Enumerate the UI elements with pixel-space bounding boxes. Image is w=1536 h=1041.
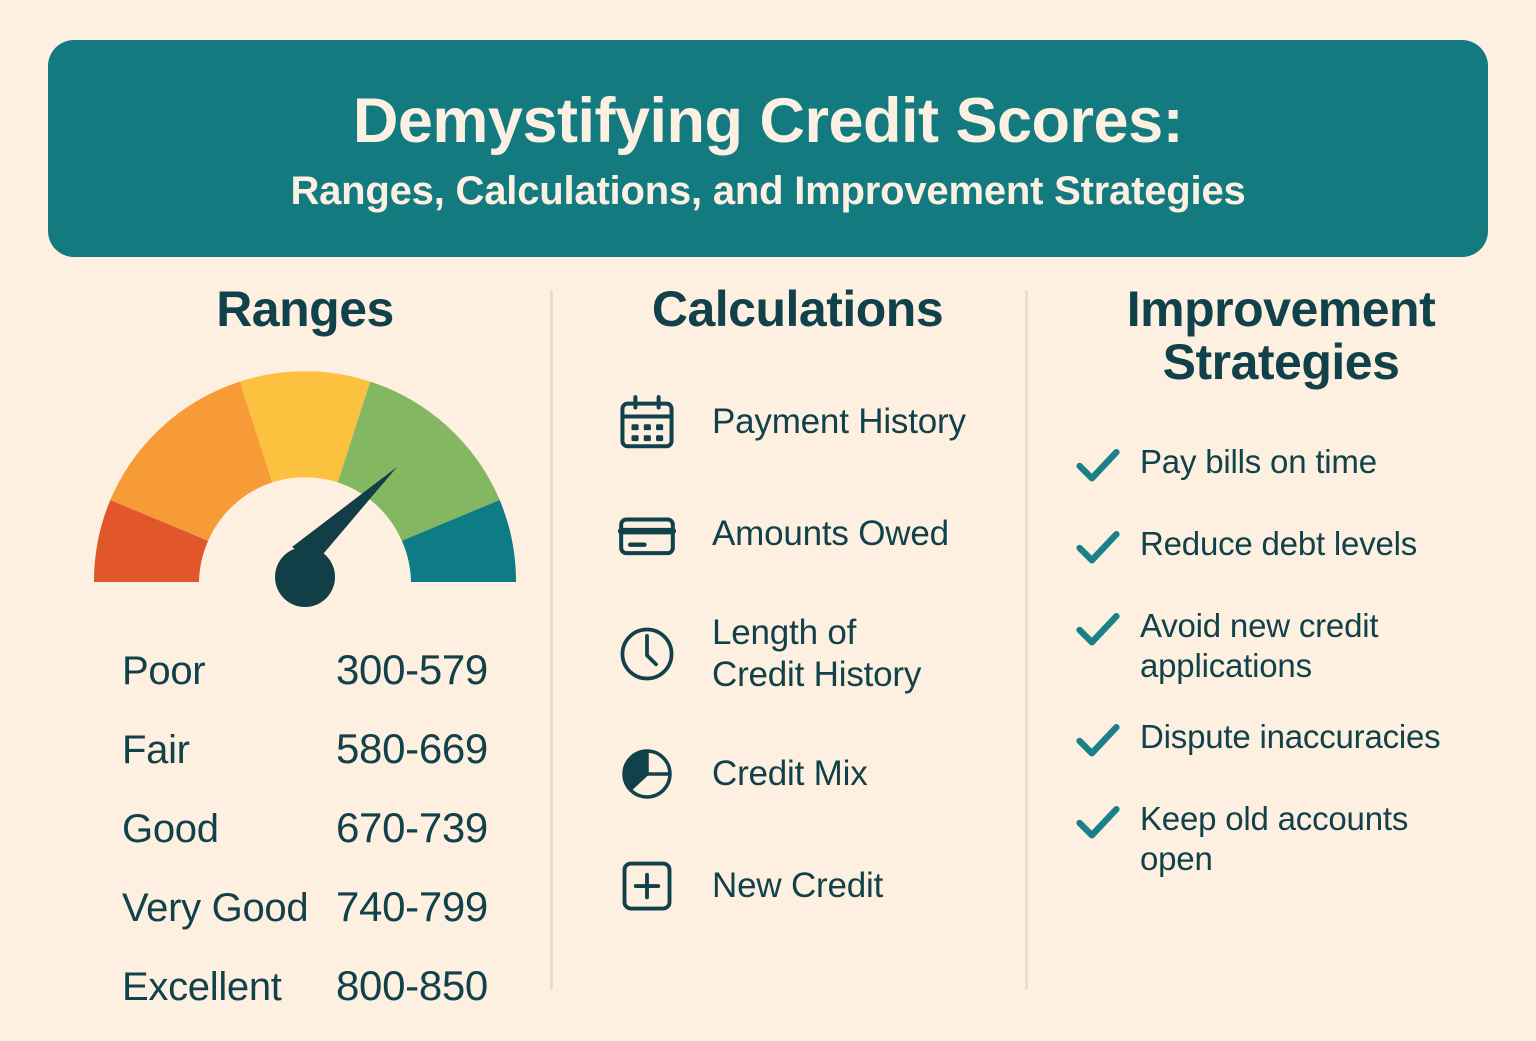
credit-score-gauge — [60, 354, 550, 624]
page-title: Demystifying Credit Scores: — [353, 88, 1183, 154]
check-icon — [1070, 717, 1126, 769]
calculation-label: New Credit — [712, 865, 883, 908]
plus-square-icon — [608, 851, 686, 921]
list-item: Keep old accounts open — [1046, 799, 1516, 880]
ranges-heading: Ranges — [60, 283, 550, 336]
list-item: Payment History — [570, 388, 1025, 458]
list-item: Dispute inaccuracies — [1046, 717, 1516, 769]
infographic-page: Demystifying Credit Scores: Ranges, Calc… — [0, 0, 1536, 1024]
calculation-label: Length of Credit History — [712, 612, 921, 697]
column-divider-right — [1025, 290, 1028, 990]
range-value: 740-799 — [288, 883, 488, 931]
credit-card-icon — [608, 500, 686, 570]
range-value: 800-850 — [288, 962, 488, 1010]
table-row: Very Good 740-799 — [60, 883, 550, 962]
range-label: Poor — [60, 649, 288, 694]
calculation-label: Amounts Owed — [712, 513, 949, 556]
ranges-table: Poor 300-579 Fair 580-669 Good 670-739 V… — [60, 646, 550, 1041]
pie-chart-icon — [608, 739, 686, 809]
list-item: Credit Mix — [570, 739, 1025, 809]
list-item: Amounts Owed — [570, 500, 1025, 570]
check-icon — [1070, 606, 1126, 658]
improvement-heading: Improvement Strategies — [1046, 283, 1516, 388]
check-icon — [1070, 524, 1126, 576]
calendar-icon — [608, 388, 686, 458]
calculations-heading: Calculations — [570, 283, 1025, 336]
check-icon — [1070, 799, 1126, 851]
header-banner: Demystifying Credit Scores: Ranges, Calc… — [48, 40, 1488, 257]
range-value: 300-579 — [288, 646, 488, 694]
table-row: Poor 300-579 — [60, 646, 550, 725]
list-item: Reduce debt levels — [1046, 524, 1516, 576]
table-row: Excellent 800-850 — [60, 962, 550, 1041]
column-ranges: Ranges — [60, 283, 550, 1041]
strategy-label: Keep old accounts open — [1140, 799, 1408, 880]
column-divider-left — [550, 290, 553, 990]
range-value: 580-669 — [288, 725, 488, 773]
range-label: Excellent — [60, 965, 288, 1010]
list-item: Pay bills on time — [1046, 442, 1516, 494]
strategy-label: Reduce debt levels — [1140, 524, 1417, 564]
column-calculations: Calculations — [570, 283, 1025, 963]
improvement-list: Pay bills on time Reduce debt levels Avo… — [1046, 442, 1516, 879]
strategy-label: Pay bills on time — [1140, 442, 1377, 482]
list-item: Avoid new credit applications — [1046, 606, 1516, 687]
check-icon — [1070, 442, 1126, 494]
list-item: Length of Credit History — [570, 612, 1025, 697]
range-value: 670-739 — [288, 804, 488, 852]
range-label: Good — [60, 807, 288, 852]
table-row: Good 670-739 — [60, 804, 550, 883]
calculations-list: Payment History Amounts Owed — [570, 388, 1025, 921]
list-item: New Credit — [570, 851, 1025, 921]
table-row: Fair 580-669 — [60, 725, 550, 804]
strategy-label: Dispute inaccuracies — [1140, 717, 1440, 757]
calculation-label: Credit Mix — [712, 753, 868, 796]
page-subtitle: Ranges, Calculations, and Improvement St… — [290, 169, 1245, 213]
gauge-needle — [275, 467, 397, 607]
column-improvement-strategies: Improvement Strategies Pay bills on time… — [1046, 283, 1516, 909]
calculation-label: Payment History — [712, 401, 966, 444]
strategy-label: Avoid new credit applications — [1140, 606, 1378, 687]
clock-icon — [608, 619, 686, 689]
gauge-svg — [60, 354, 550, 624]
range-label: Fair — [60, 728, 288, 773]
range-label: Very Good — [60, 886, 288, 931]
